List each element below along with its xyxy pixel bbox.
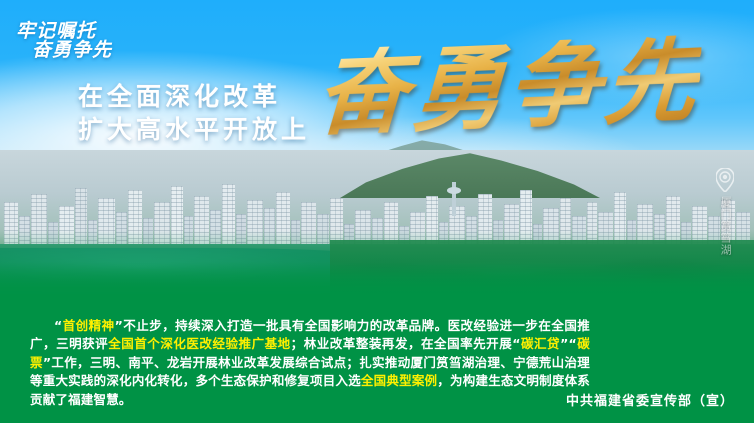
body-text-run: ”“ [560, 336, 577, 351]
body-highlight: 全国典型案例 [361, 373, 437, 388]
city-hill [340, 150, 600, 198]
publisher-credit: 中共福建省委宣传部（宣） [566, 390, 734, 409]
campaign-badge: 牢记嘱托 奋勇争先 [16, 22, 112, 61]
watermark-label: 厦门筼筜湖 [719, 196, 731, 256]
body-highlight: 碳汇贷 [521, 336, 560, 351]
subtitle-line2: 扩大高水平开放上 [78, 113, 310, 146]
campaign-badge-line2: 奋勇争先 [32, 41, 112, 60]
poster-subtitle: 在全面深化改革 扩大高水平开放上 [78, 80, 310, 146]
subtitle-line1: 在全面深化改革 [78, 80, 310, 113]
body-paragraph: “首创精神”不止步，持续深入打造一批具有全国影响力的改革品牌。医改经验进一步在全… [30, 317, 590, 410]
body-highlight: 全国首个深化医改经验推广基地 [108, 336, 290, 351]
poster-root: 牢记嘱托 奋勇争先 在全面深化改革 扩大高水平开放上 奋勇争先 厦门筼筜湖 “首… [0, 0, 754, 423]
location-pin-icon [716, 168, 734, 192]
body-highlight: 首创精神 [62, 318, 114, 333]
green-text-panel: “首创精神”不止步，持续深入打造一批具有全国影响力的改革品牌。医改经验进一步在全… [0, 300, 754, 423]
tv-tower-sphere [447, 187, 461, 194]
body-text-run: ；林业改革整装再发，在全国率先开展“ [291, 336, 521, 351]
photo-fade-to-panel [0, 262, 754, 300]
location-watermark: 厦门筼筜湖 [712, 168, 738, 256]
calligraphy-headline: 奋勇争先 [314, 35, 702, 142]
